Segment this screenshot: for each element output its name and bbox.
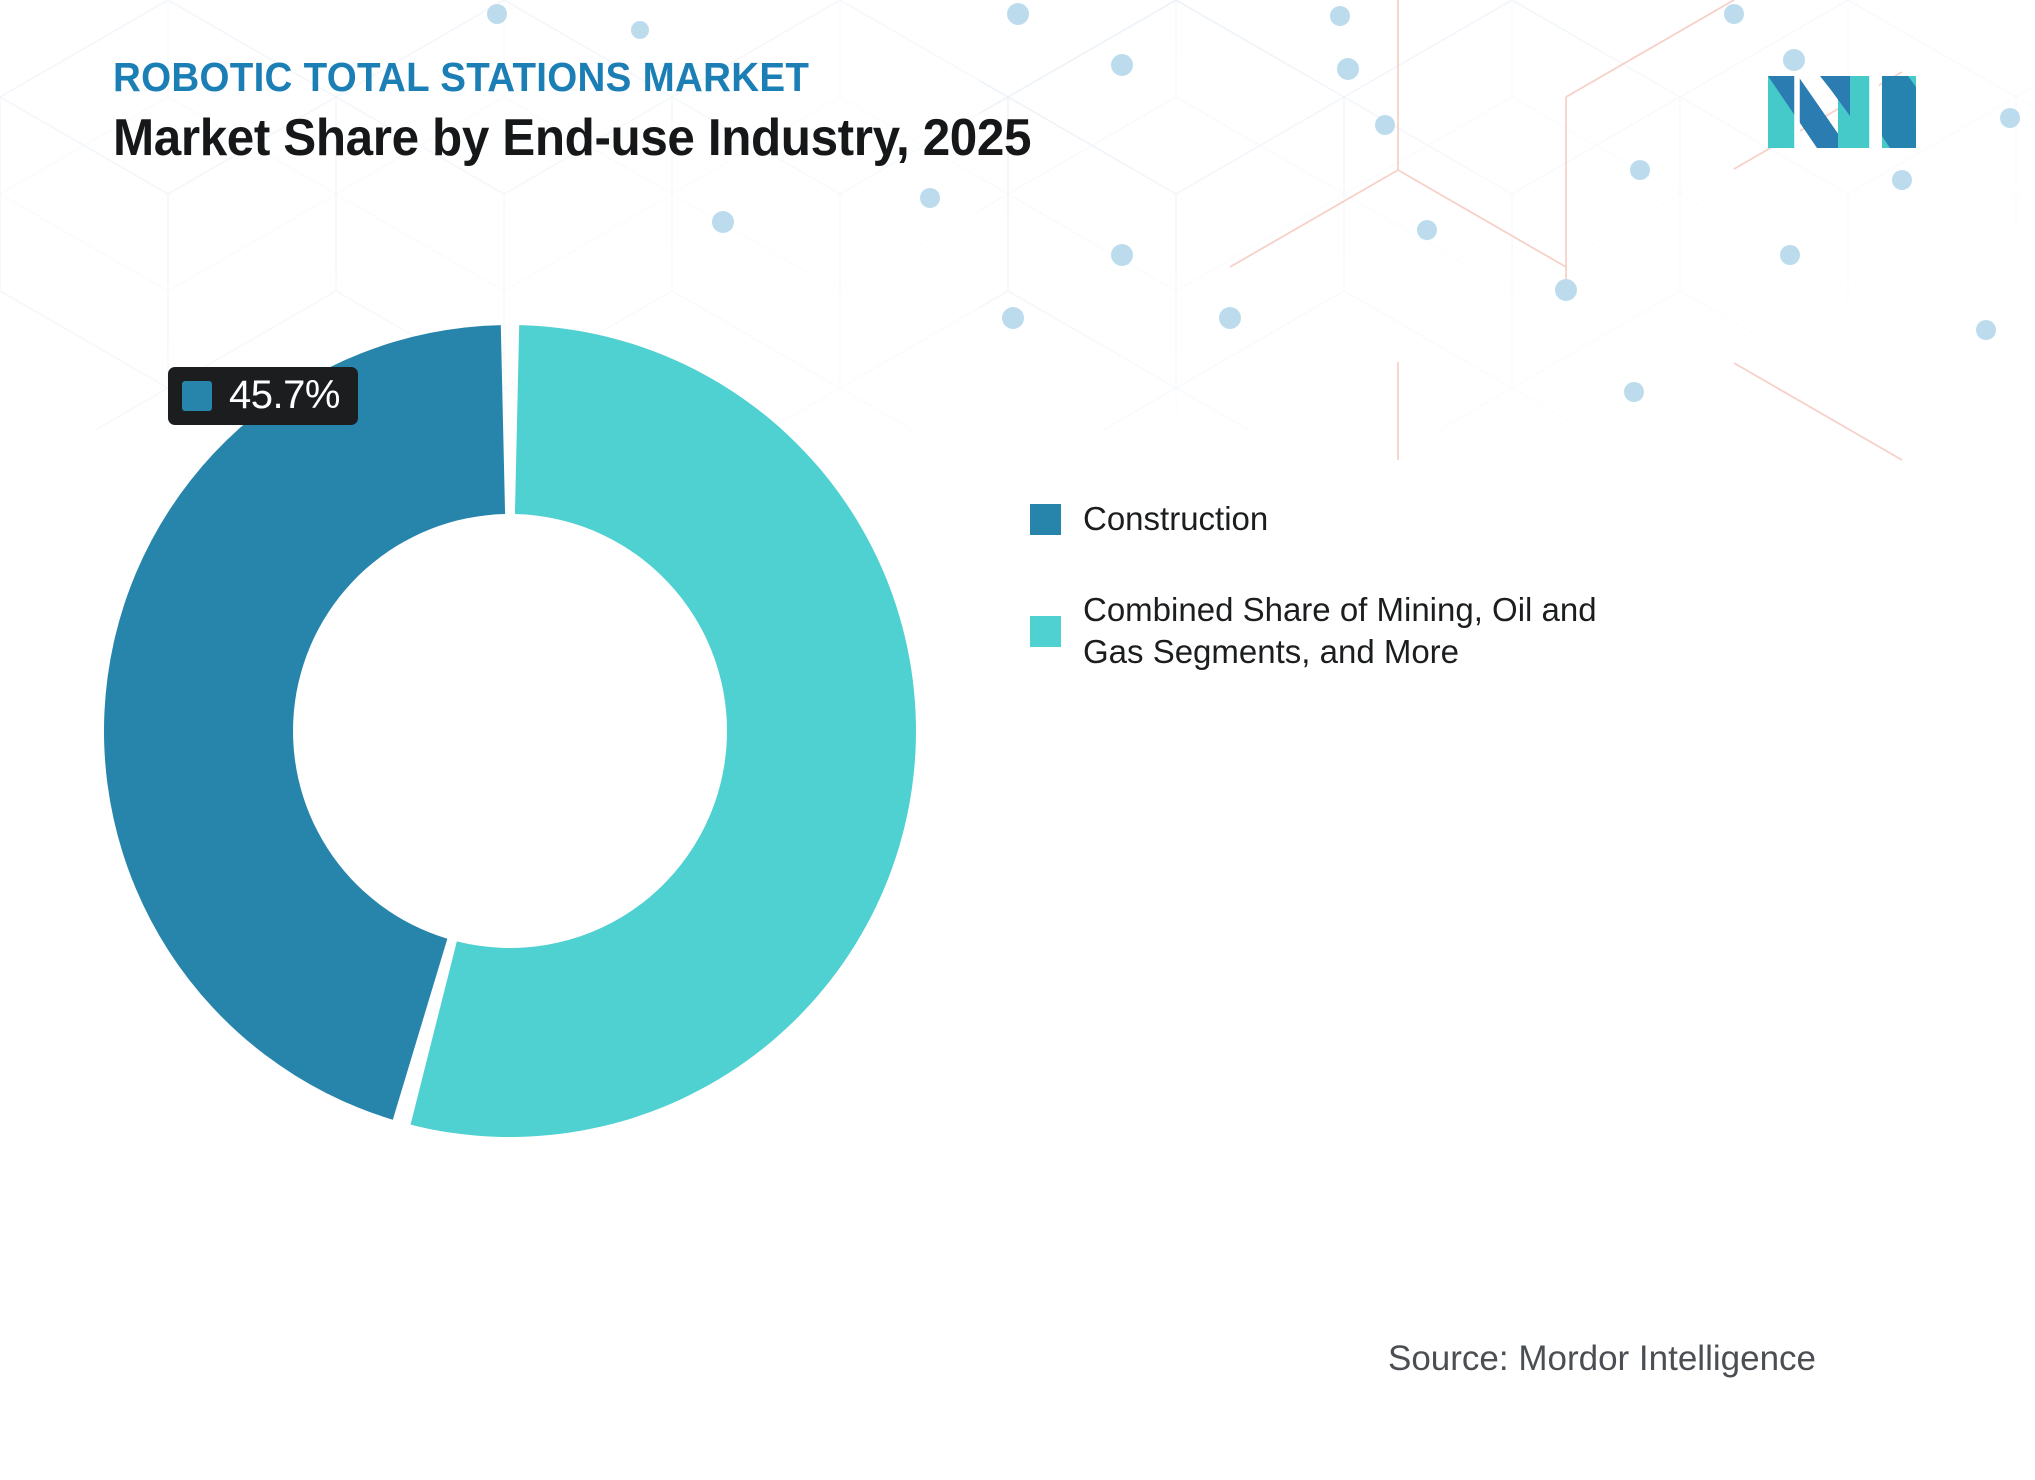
legend-label-construction: Construction (1083, 498, 1268, 540)
legend-label-combined: Combined Share of Mining, Oil and Gas Se… (1083, 589, 1643, 673)
legend-item-construction[interactable]: Construction (1030, 498, 1650, 540)
chart-eyebrow: ROBOTIC TOTAL STATIONS MARKET (113, 55, 1335, 101)
donut-chart-svg (90, 311, 930, 1151)
data-label-swatch (182, 381, 212, 411)
data-label-value: 45.7% (229, 375, 340, 417)
legend-item-combined[interactable]: Combined Share of Mining, Oil and Gas Se… (1030, 589, 1650, 673)
page-title: Market Share by End-use Industry, 2025 (113, 109, 1348, 167)
chart-header: ROBOTIC TOTAL STATIONS MARKET Market Sha… (113, 55, 1413, 167)
legend-swatch-construction (1030, 504, 1061, 535)
chart-legend: Construction Combined Share of Mining, O… (1030, 498, 1650, 723)
donut-chart (90, 311, 930, 1151)
chart-canvas: ROBOTIC TOTAL STATIONS MARKET Market Sha… (0, 0, 2035, 1480)
mordor-intelligence-logo-icon (1768, 70, 1916, 148)
source-attribution: Source: Mordor Intelligence (1388, 1339, 1816, 1379)
legend-swatch-combined (1030, 616, 1061, 647)
data-label-badge: 45.7% (168, 367, 358, 425)
